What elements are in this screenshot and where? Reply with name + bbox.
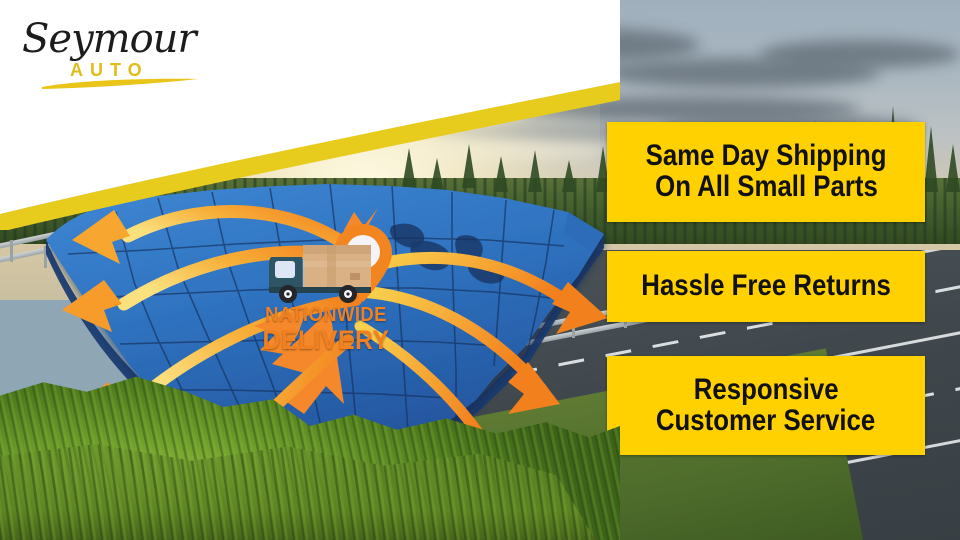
- banner-line: Responsive: [694, 375, 839, 406]
- banner-line: On All Small Parts: [655, 172, 878, 203]
- promotional-banner-image: NATIONWIDE DELIVERY Seymour AUTO Same Da…: [0, 0, 960, 540]
- logo-swoosh-icon: [40, 78, 200, 90]
- nationwide-line: NATIONWIDE: [262, 305, 391, 325]
- delivery-truck-icon: [268, 243, 378, 305]
- nationwide-delivery-label: NATIONWIDE DELIVERY: [262, 305, 391, 354]
- banner-same-day-shipping[interactable]: Same Day Shipping On All Small Parts: [607, 122, 925, 222]
- banner-responsive-customer-service[interactable]: Responsive Customer Service: [607, 356, 925, 455]
- banner-line: Same Day Shipping: [646, 141, 887, 172]
- banner-hassle-free-returns[interactable]: Hassle Free Returns: [607, 251, 925, 322]
- delivery-line: DELIVERY: [262, 327, 391, 354]
- banner-line: Hassle Free Returns: [641, 271, 891, 302]
- brand-name: Seymour: [22, 16, 196, 62]
- banner-line: Customer Service: [656, 406, 875, 437]
- brand-logo[interactable]: Seymour AUTO: [22, 14, 212, 92]
